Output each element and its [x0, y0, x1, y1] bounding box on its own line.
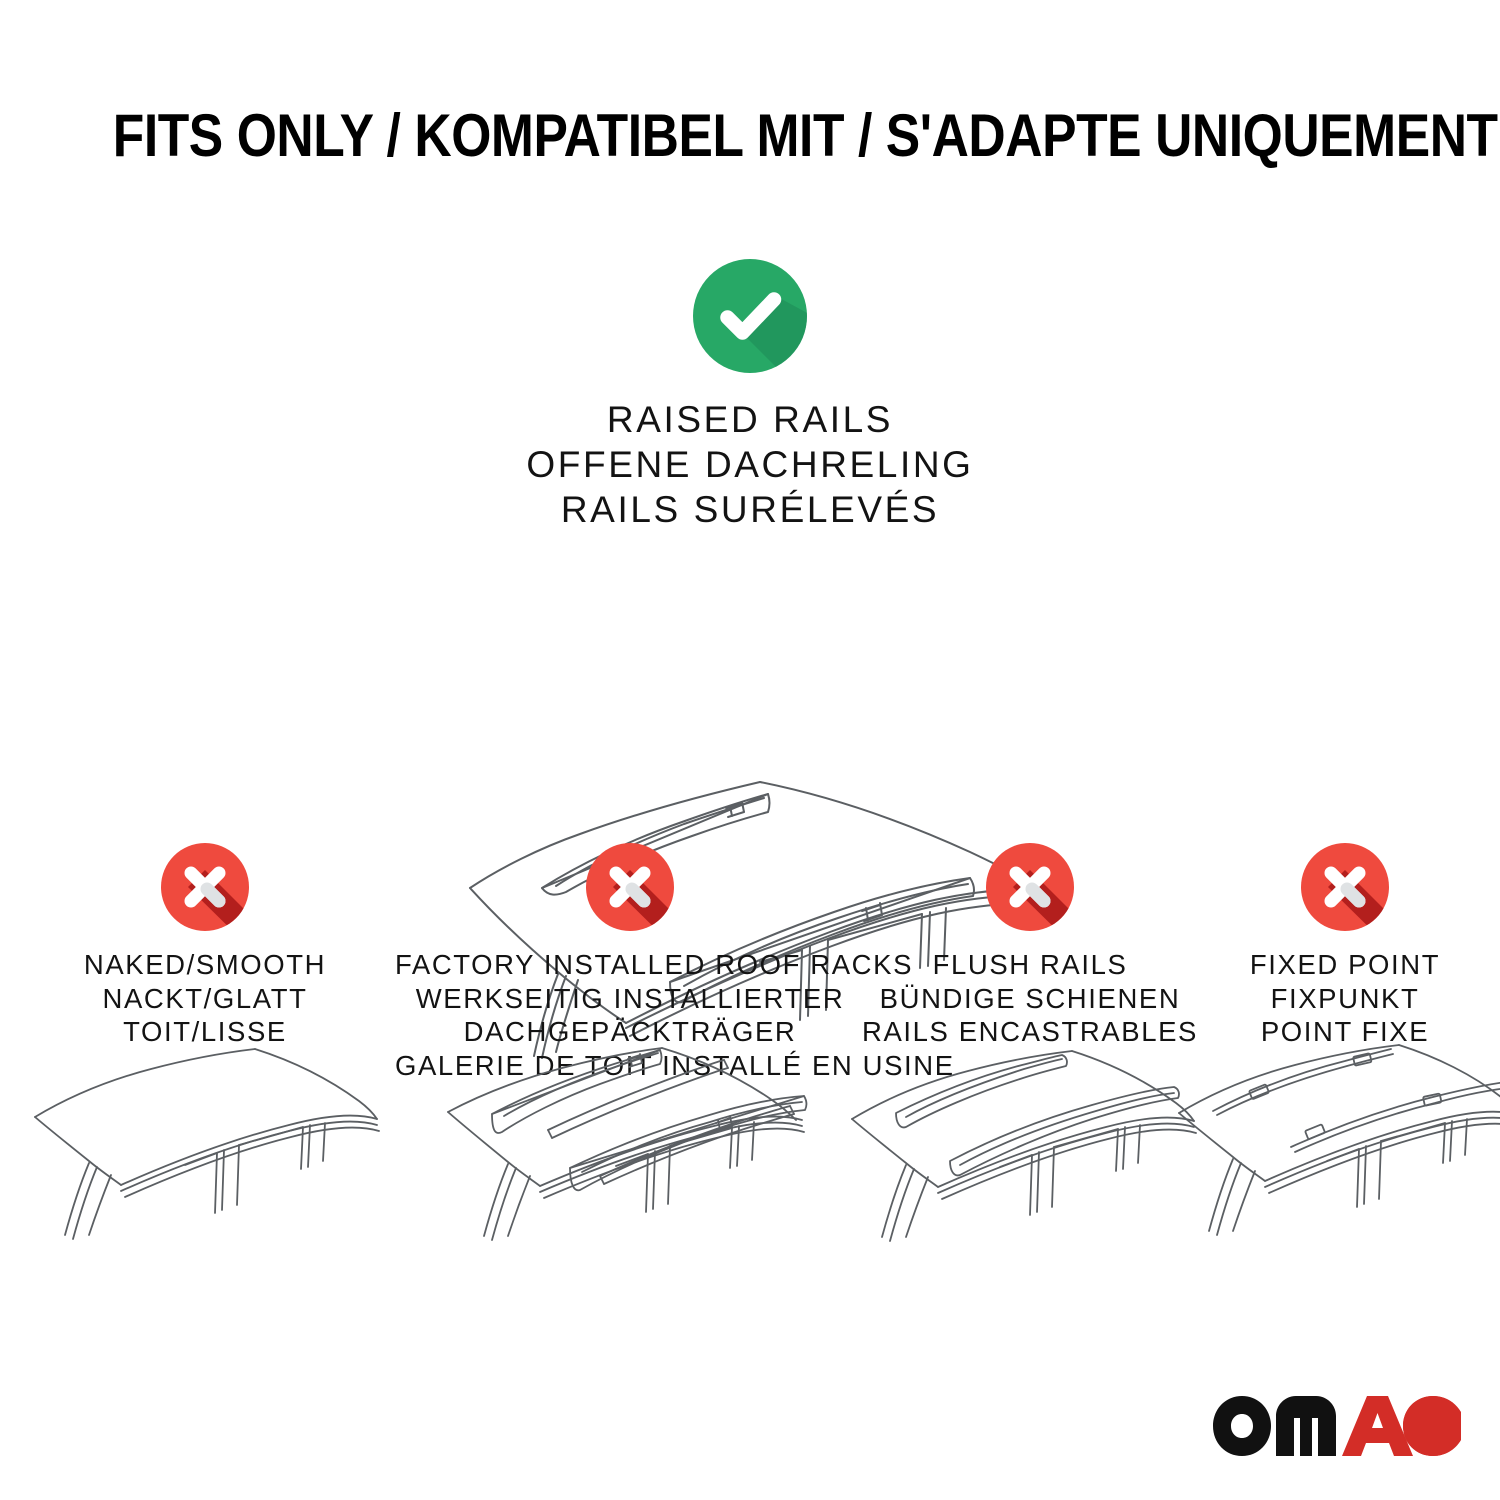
- incompatible-column-naked-smooth: NAKED/SMOOTH NACKT/GLATT TOIT/LISSE: [10, 840, 400, 1049]
- x-circle-icon: [1298, 840, 1392, 934]
- column-labels: NAKED/SMOOTH NACKT/GLATT TOIT/LISSE: [10, 948, 400, 1049]
- page-title-bar: FITS ONLY / KOMPATIBEL MIT / S'ADAPTE UN…: [0, 106, 1500, 166]
- check-circle-icon: [689, 255, 811, 377]
- car-roof-fixed-point-illustration: [1165, 1035, 1500, 1265]
- logo-letter-a: [1342, 1396, 1413, 1456]
- car-roof-factory-roof-racks-illustration: [430, 1040, 830, 1270]
- incompatible-column-factory-roof-racks: FACTORY INSTALLED ROOF RACKS WERKSEITIG …: [395, 840, 865, 1082]
- page-title: FITS ONLY / KOMPATIBEL MIT / S'ADAPTE UN…: [113, 106, 1498, 166]
- column-label-en: FLUSH RAILS: [845, 948, 1215, 982]
- compatible-label-en: RAISED RAILS: [0, 397, 1500, 442]
- car-roof-flush-rails-illustration: [840, 1035, 1220, 1265]
- compatible-labels: RAISED RAILS OFFENE DACHRELING RAILS SUR…: [0, 397, 1500, 532]
- x-circle-icon: [158, 840, 252, 934]
- logo-letter-o: [1213, 1396, 1271, 1456]
- omac-logo: [1212, 1388, 1462, 1464]
- logo-letter-c-solid: [1403, 1396, 1461, 1456]
- car-roof-naked-smooth-illustration: [25, 1035, 385, 1265]
- column-label-de-1: WERKSEITIG INSTALLIERTER: [395, 982, 865, 1016]
- column-label-en: NAKED/SMOOTH: [10, 948, 400, 982]
- compatible-section: RAISED RAILS OFFENE DACHRELING RAILS SUR…: [0, 255, 1500, 532]
- x-circle-icon: [983, 840, 1077, 934]
- x-circle-icon: [583, 840, 677, 934]
- column-labels: FLUSH RAILS BÜNDIGE SCHIENEN RAILS ENCAS…: [845, 948, 1215, 1049]
- compatible-label-fr: RAILS SURÉLEVÉS: [0, 487, 1500, 532]
- column-label-en: FACTORY INSTALLED ROOF RACKS: [395, 948, 865, 982]
- column-label-de: FIXPUNKT: [1195, 982, 1495, 1016]
- column-label-en: FIXED POINT: [1195, 948, 1495, 982]
- column-labels: FIXED POINT FIXPUNKT POINT FIXE: [1195, 948, 1495, 1049]
- incompatible-column-flush-rails: FLUSH RAILS BÜNDIGE SCHIENEN RAILS ENCAS…: [845, 840, 1215, 1049]
- incompatible-section: NAKED/SMOOTH NACKT/GLATT TOIT/LISSE: [0, 840, 1500, 1480]
- compatible-label-de: OFFENE DACHRELING: [0, 442, 1500, 487]
- column-label-de: BÜNDIGE SCHIENEN: [845, 982, 1215, 1016]
- logo-letter-m: [1276, 1396, 1336, 1456]
- incompatible-column-fixed-point: FIXED POINT FIXPUNKT POINT FIXE: [1195, 840, 1495, 1049]
- column-label-de: NACKT/GLATT: [10, 982, 400, 1016]
